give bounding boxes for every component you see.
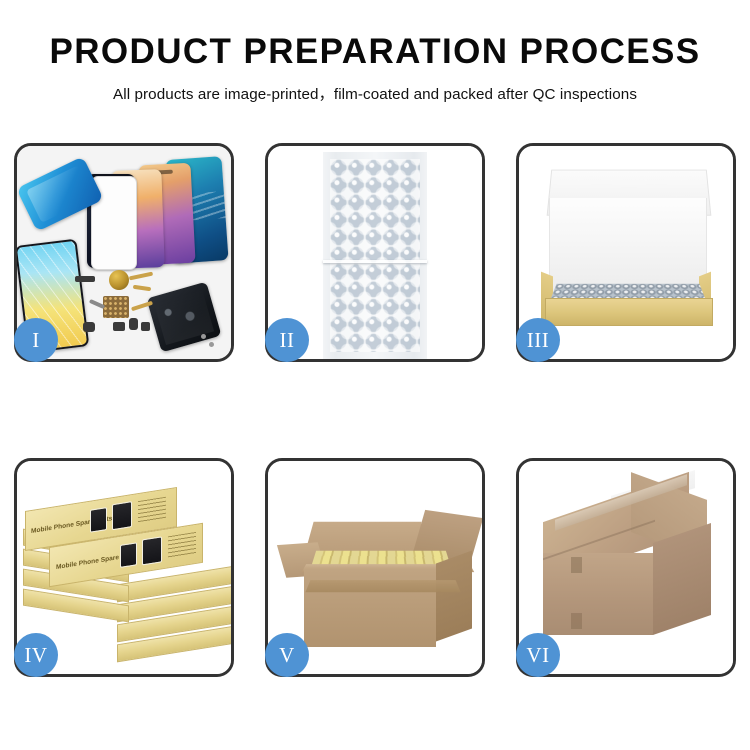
inner-box-front-panel: [545, 298, 713, 326]
step-badge-6: VI: [516, 633, 560, 677]
box-spec-lines-middle: [168, 532, 196, 558]
box-screen-image-top-1: [90, 507, 107, 533]
step-badge-1: I: [14, 318, 58, 362]
screw-part-2: [209, 342, 214, 347]
connector-part-5: [141, 322, 150, 331]
page-subtitle: All products are image-printed，film-coat…: [0, 82, 750, 104]
inner-box-interior: [549, 198, 707, 294]
sealed-carton-front-face: [543, 553, 653, 635]
step-badge-2: II: [265, 318, 309, 362]
box-screen-image-middle-1: [120, 542, 137, 568]
process-step-panel-4[interactable]: Mobile Phone Spare Parts Mobile Phone Sp…: [14, 458, 234, 677]
bubble-pattern-offset: [330, 159, 420, 352]
bubble-wrap-sheet: [323, 152, 427, 359]
process-step-panel-2[interactable]: II: [265, 143, 485, 362]
step-badge-5: V: [265, 633, 309, 677]
flex-cable-2: [133, 285, 151, 291]
speaker-coil-part: [109, 270, 129, 290]
inner-box-stack: Mobile Phone Spare Parts Mobile Phone Sp…: [21, 479, 231, 663]
process-step-panel-5[interactable]: V: [265, 458, 485, 677]
connector-part-3: [113, 322, 125, 331]
connector-part-4: [129, 318, 138, 330]
process-step-panel-6[interactable]: VI: [516, 458, 736, 677]
flex-cable-1: [129, 272, 153, 281]
sealed-carton-tab-upper: [571, 557, 582, 573]
process-step-grid: I II III: [14, 143, 736, 677]
box-spec-lines-top: [138, 497, 166, 523]
connector-part-1: [75, 276, 95, 282]
process-step-panel-3[interactable]: III: [516, 143, 736, 362]
sealed-carton-tab-lower: [571, 613, 582, 629]
page-header: PRODUCT PREPARATION PROCESS All products…: [0, 0, 750, 104]
process-step-panel-1[interactable]: I: [14, 143, 234, 362]
connector-part-2: [83, 322, 95, 332]
screw-part-1: [201, 334, 206, 339]
step-badge-3: III: [516, 318, 560, 362]
box-screen-image-middle-2: [142, 536, 162, 565]
box-screen-image-top-2: [112, 501, 132, 530]
chip-grid-part: [103, 296, 129, 318]
carton-flap-front: [305, 580, 460, 592]
carton-side-face: [436, 550, 472, 641]
step-badge-4: IV: [14, 633, 58, 677]
sealed-carton-right-face: [653, 523, 711, 635]
page-title: PRODUCT PREPARATION PROCESS: [0, 34, 750, 71]
bubble-wrap-seam: [323, 260, 427, 263]
